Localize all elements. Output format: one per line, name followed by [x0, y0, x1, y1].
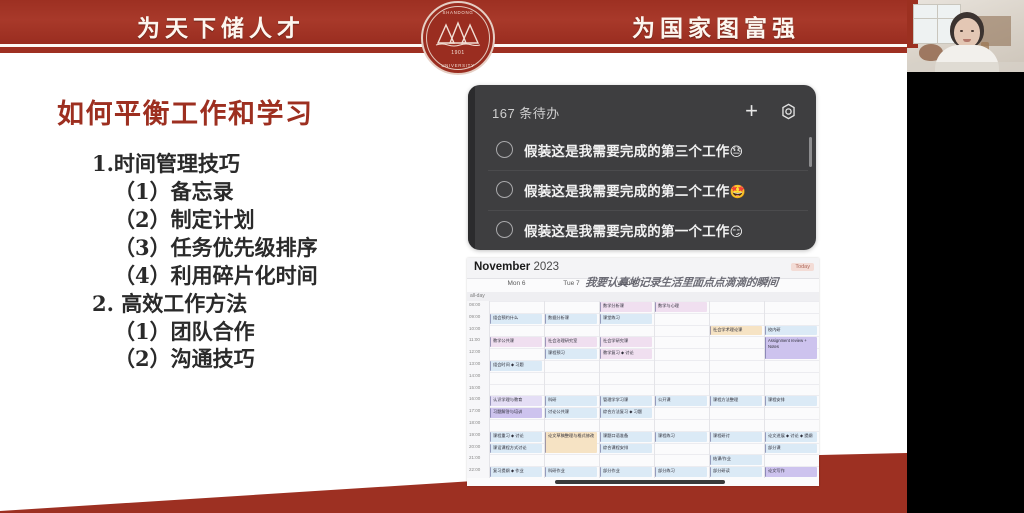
- calendar-event-6[interactable]: 课设课程方式讨论: [490, 444, 542, 454]
- calendar-allday-label: all-day: [470, 293, 485, 299]
- screen-recording-frame: 为天下储人才 为国家图富强 SHANDONG 1901 UNIVERSITY 如…: [0, 0, 1024, 513]
- right-letterbox: [907, 72, 1024, 513]
- todo-item[interactable]: 假装这是我需要完成的第一个工作😏: [488, 211, 808, 250]
- calendar-event-11[interactable]: 科研: [545, 396, 597, 406]
- calendar-handwritten-annotation: 我要认真地记录生活里面点点滴滴的瞬间: [584, 274, 816, 296]
- slide-title: 如何平衡工作和学习: [57, 92, 314, 131]
- todo-checkbox-2[interactable]: [496, 221, 513, 238]
- add-todo-button[interactable]: +: [745, 100, 758, 122]
- calendar-time-label-9: 17:00: [469, 408, 480, 413]
- todo-count-label: 167 条待办: [492, 103, 560, 122]
- calendar-event-22[interactable]: 综合课程安排: [600, 444, 652, 454]
- calendar-screenshot: November 2023 Today Mon 6Tue 7Wed 8 all-…: [467, 258, 819, 486]
- emblem-text-bottom: UNIVERSITY: [421, 63, 495, 68]
- calendar-event-25[interactable]: 公开课: [655, 396, 707, 406]
- calendar-event-2[interactable]: 组会时间 ◆ 习题: [490, 361, 542, 371]
- calendar-time-label-1: 09:00: [469, 314, 480, 319]
- calendar-event-21[interactable]: 课题口语准备: [600, 432, 652, 442]
- todo-item[interactable]: 假装这是我需要完成的第三个工作😓: [488, 131, 808, 171]
- slide-bullet-1: （1）备忘录: [114, 178, 318, 206]
- emblem-text-top: SHANDONG: [421, 10, 495, 15]
- slide-bullet-7: （2）沟通技巧: [114, 345, 318, 373]
- calendar-event-0[interactable]: 组会预约什么: [490, 314, 542, 324]
- webcam-bottom-strip: [907, 62, 1024, 72]
- calendar-event-10[interactable]: 课程预习: [545, 349, 597, 359]
- todo-item-list: 假装这是我需要完成的第三个工作😓假装这是我需要完成的第二个工作🤩假装这是我需要完…: [488, 131, 808, 250]
- todo-item-emoji-1: 🤩: [730, 184, 746, 199]
- calendar-time-label-7: 15:00: [469, 385, 480, 390]
- calendar-event-32[interactable]: 部分研读: [710, 467, 762, 477]
- todo-item[interactable]: 假装这是我需要完成的第二个工作🤩: [488, 171, 808, 211]
- todo-header: 167 条待办 +: [492, 101, 802, 125]
- calendar-event-33[interactable]: 校内研: [765, 326, 817, 336]
- calendar-event-9[interactable]: 社会治理研究室: [545, 337, 597, 347]
- slide-bullet-4: （4）利用碎片化时间: [114, 262, 318, 290]
- calendar-event-15[interactable]: 数学分析课: [600, 302, 652, 312]
- phone-edge: [468, 85, 475, 250]
- calendar-day-header-0: Mon 6: [489, 280, 544, 287]
- todo-scrollbar[interactable]: [809, 137, 812, 167]
- calendar-event-26[interactable]: 课程练习: [655, 432, 707, 442]
- calendar-month-title: November 2023: [474, 261, 559, 273]
- calendar-event-19[interactable]: 管理学学习课: [600, 396, 652, 406]
- calendar-event-1[interactable]: 教学公共课: [490, 337, 542, 347]
- calendar-event-31[interactable]: 结课/作业: [710, 455, 762, 465]
- todo-item-label-2: 假装这是我需要完成的第一个工作😏: [524, 220, 743, 240]
- calendar-event-29[interactable]: 课程方法整理: [710, 396, 762, 406]
- calendar-event-7[interactable]: 复习提纲 ◆ 作业: [490, 467, 542, 477]
- calendar-event-20[interactable]: 综合方法复习 ◆ 习题: [600, 408, 652, 418]
- slide-bullet-6: （1）团队合作: [114, 318, 318, 346]
- calendar-event-16[interactable]: 课堂练习: [600, 314, 652, 324]
- emblem-year: 1901: [421, 50, 495, 56]
- calendar-horizontal-scrollbar[interactable]: [555, 480, 725, 484]
- calendar-year: 2023: [533, 261, 559, 273]
- calendar-time-label-10: 18:00: [469, 420, 480, 425]
- calendar-event-37[interactable]: 部分课: [765, 444, 817, 454]
- calendar-event-5[interactable]: 课程重习 ◆ 讨论: [490, 432, 542, 442]
- calendar-time-label-12: 20:00: [469, 444, 480, 449]
- calendar-event-24[interactable]: 数学与心理: [655, 302, 707, 312]
- calendar-time-label-13: 21:00: [469, 455, 480, 460]
- todo-app-screenshot: 167 条待办 + 假装这是我需要完成的第三个工作😓假装这是我需要完成的第二个工…: [468, 85, 816, 250]
- calendar-time-label-2: 10:00: [469, 326, 480, 331]
- shandong-university-emblem-icon: SHANDONG 1901 UNIVERSITY: [421, 1, 495, 75]
- calendar-event-12[interactable]: 讨论公共课: [545, 408, 597, 418]
- presentation-slide: 为天下储人才 为国家图富强 SHANDONG 1901 UNIVERSITY 如…: [0, 0, 907, 513]
- calendar-event-27[interactable]: 部分练习: [655, 467, 707, 477]
- calendar-time-label-14: 22:00: [469, 467, 480, 472]
- calendar-event-30[interactable]: 课程研讨: [710, 432, 762, 442]
- calendar-grid[interactable]: 08:0009:0010:0011:0012:0013:0014:0015:00…: [467, 301, 819, 478]
- calendar-event-14[interactable]: 科研作业: [545, 467, 597, 477]
- slide-bullet-list: 1.时间管理技巧（1）备忘录（2）制定计划（3）任务优先级排序（4）利用碎片化时…: [92, 150, 318, 373]
- calendar-event-3[interactable]: 认识学理与教育: [490, 396, 542, 406]
- calendar-month: November: [474, 261, 530, 273]
- calendar-time-label-4: 12:00: [469, 349, 480, 354]
- todo-item-emoji-2: 😏: [730, 224, 744, 239]
- calendar-event-4[interactable]: 习题解答与培训: [490, 408, 542, 418]
- calendar-event-23[interactable]: 部分作业: [600, 467, 652, 477]
- slide-bullet-0: 1.时间管理技巧: [92, 150, 318, 178]
- todo-item-emoji-0: 😓: [730, 144, 744, 159]
- calendar-event-8[interactable]: 数据分析课: [545, 314, 597, 324]
- calendar-event-38[interactable]: 论文写作: [765, 467, 817, 477]
- calendar-column-line: [654, 301, 655, 478]
- slide-bullet-2: （2）制定计划: [114, 206, 318, 234]
- gear-icon[interactable]: [779, 102, 798, 121]
- calendar-event-35[interactable]: 课程安排: [765, 396, 817, 406]
- calendar-time-label-0: 08:00: [469, 302, 480, 307]
- emblem-mountain-icon: [434, 21, 482, 47]
- presenter-face: [954, 18, 980, 48]
- calendar-event-36[interactable]: 论文进展 ◆ 讨论 ◆ 提纲: [765, 432, 817, 442]
- banner-slogan-right: 为国家图富强: [632, 9, 800, 43]
- calendar-today-button[interactable]: Today: [791, 263, 814, 271]
- calendar-event-17[interactable]: 社会学研究课: [600, 337, 652, 347]
- slide-bullet-5: 2. 高效工作方法: [92, 290, 318, 318]
- slide-bullet-3: （3）任务优先级排序: [114, 234, 318, 262]
- banner-slogan-left: 为天下储人才: [137, 9, 305, 43]
- calendar-event-34[interactable]: Assignment review + Notes: [765, 337, 817, 359]
- calendar-time-label-8: 16:00: [469, 396, 480, 401]
- calendar-time-label-11: 19:00: [469, 432, 480, 437]
- todo-item-label-1: 假装这是我需要完成的第二个工作🤩: [524, 180, 746, 200]
- todo-checkbox-1[interactable]: [496, 181, 513, 198]
- calendar-time-label-5: 13:00: [469, 361, 480, 366]
- todo-item-label-0: 假装这是我需要完成的第三个工作😓: [524, 140, 743, 160]
- calendar-time-label-3: 11:00: [469, 337, 480, 342]
- calendar-event-13[interactable]: 论文草稿整理与格式修改: [545, 432, 597, 454]
- calendar-time-label-6: 14:00: [469, 373, 480, 378]
- presenter-webcam-video: [907, 0, 1024, 72]
- todo-checkbox-0[interactable]: [496, 141, 513, 158]
- calendar-event-18[interactable]: 教学复习 ◆ 讨论: [600, 349, 652, 359]
- calendar-event-28[interactable]: 社会学术理论课: [710, 326, 762, 336]
